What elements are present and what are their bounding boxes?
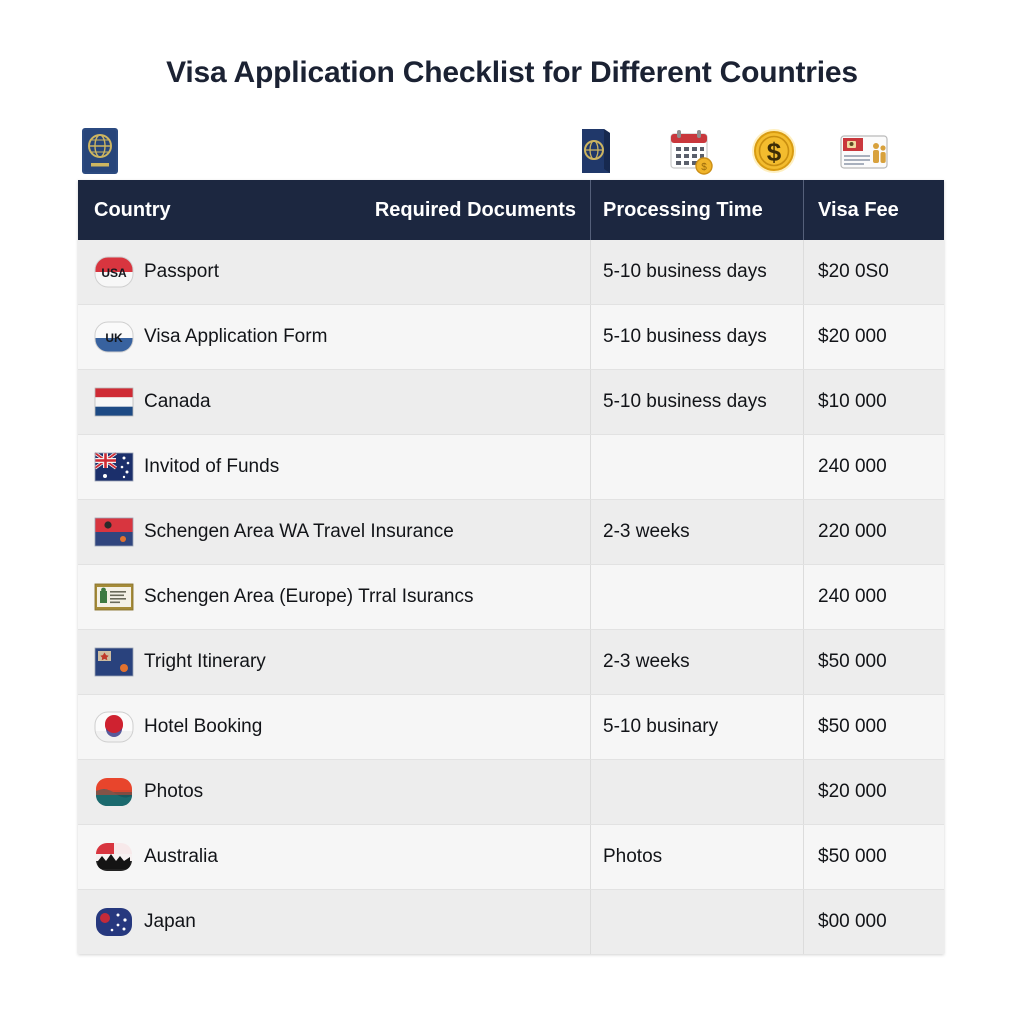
dollar-coin-icon: $ (750, 126, 798, 176)
cell-country: UKVisa Application Form (78, 305, 590, 369)
cell-visa-fee: $20 000 (803, 305, 944, 369)
table-row[interactable]: Invitod of Funds240 000 (78, 435, 944, 500)
table-row[interactable]: Hotel Booking5-10 businary$50 000 (78, 695, 944, 760)
cell-country: Japan (78, 890, 590, 954)
australia-flag (94, 451, 144, 483)
japan-flag (94, 711, 144, 743)
country-label: Japan (144, 911, 196, 933)
blue-canton-flag (94, 646, 144, 678)
cell-country: Canada (78, 370, 590, 434)
cell-visa-fee: $50 000 (803, 695, 944, 759)
cell-country: Schengen Area WA Travel Insurance (78, 500, 590, 564)
country-label: Tright Itinerary (144, 651, 266, 673)
cell-country: Tright Itinerary (78, 630, 590, 694)
page-title: Visa Application Checklist for Different… (0, 56, 1024, 90)
cell-visa-fee: $20 0S0 (803, 240, 944, 304)
calendar-coin-icon: $ (667, 126, 715, 176)
country-label: Passport (144, 261, 219, 283)
column-header-visa-fee: Visa Fee (803, 180, 944, 240)
table-row[interactable]: Canada5-10 business days$10 000 (78, 370, 944, 435)
svg-text:USA: USA (101, 266, 127, 280)
country-label: Hotel Booking (144, 716, 262, 738)
red-blue-star-flag (94, 516, 144, 548)
cell-visa-fee: 220 000 (803, 500, 944, 564)
header-icon-strip: $ $ (78, 126, 944, 178)
netherlands-flag (94, 386, 144, 418)
svg-text:$: $ (767, 137, 782, 167)
table-row[interactable]: Schengen Area (Europe) Trral Isurancs240… (78, 565, 944, 630)
table-header-row: Country Required Documents Processing Ti… (78, 180, 944, 240)
passport-icon (78, 126, 126, 176)
cell-country: Schengen Area (Europe) Trral Isurancs (78, 565, 590, 629)
table-row[interactable]: Tright Itinerary2-3 weeks$50 000 (78, 630, 944, 695)
visa-checklist-page: Visa Application Checklist for Different… (0, 0, 1024, 1024)
cell-visa-fee: 240 000 (803, 565, 944, 629)
cell-processing-time: 5-10 businary (590, 695, 803, 759)
column-header-processing-time: Processing Time (590, 180, 803, 240)
uk-flag: UK (94, 321, 144, 353)
column-header-documents: Required Documents (375, 199, 576, 222)
table-row[interactable]: UKVisa Application Form5-10 business day… (78, 305, 944, 370)
table-row[interactable]: Photos$20 000 (78, 760, 944, 825)
country-label: Visa Application Form (144, 326, 327, 348)
svg-text:$: $ (701, 162, 707, 173)
cell-visa-fee: $50 000 (803, 825, 944, 889)
table-row[interactable]: Japan$00 000 (78, 890, 944, 954)
visa-checklist-table: Country Required Documents Processing Ti… (78, 180, 944, 954)
svg-text:UK: UK (105, 331, 123, 345)
country-label: Australia (144, 846, 218, 868)
country-label: Photos (144, 781, 203, 803)
cell-processing-time: 2-3 weeks (590, 500, 803, 564)
blue-stars-flag (94, 906, 144, 938)
country-label: Invitod of Funds (144, 456, 279, 478)
table-row[interactable]: Schengen Area WA Travel Insurance2-3 wee… (78, 500, 944, 565)
cell-country: Invitod of Funds (78, 435, 590, 499)
cell-processing-time (590, 890, 803, 954)
column-header-country-documents: Country Required Documents (78, 199, 590, 222)
table-body: USAPassport5-10 business days$20 0S0 UKV… (78, 240, 944, 954)
cell-processing-time: 5-10 business days (590, 370, 803, 434)
cell-processing-time (590, 760, 803, 824)
cell-visa-fee: $00 000 (803, 890, 944, 954)
country-label: Schengen Area WA Travel Insurance (144, 521, 454, 543)
cell-visa-fee: 240 000 (803, 435, 944, 499)
id-card-icon (838, 126, 886, 176)
cell-processing-time: 5-10 business days (590, 240, 803, 304)
passport-book-icon (574, 126, 622, 176)
cell-processing-time: 2-3 weeks (590, 630, 803, 694)
table-row[interactable]: USAPassport5-10 business days$20 0S0 (78, 240, 944, 305)
table-row[interactable]: AustraliaPhotos$50 000 (78, 825, 944, 890)
cell-country: Photos (78, 760, 590, 824)
tan-document-flag (94, 581, 144, 613)
cell-processing-time (590, 435, 803, 499)
country-label: Schengen Area (Europe) Trral Isurancs (144, 586, 474, 608)
cell-processing-time (590, 565, 803, 629)
cell-visa-fee: $10 000 (803, 370, 944, 434)
red-teal-flag (94, 776, 144, 808)
red-white-black-flag (94, 841, 144, 873)
cell-country: Hotel Booking (78, 695, 590, 759)
usa-flag: USA (94, 256, 144, 288)
cell-country: Australia (78, 825, 590, 889)
column-header-country: Country (94, 199, 171, 222)
cell-processing-time: Photos (590, 825, 803, 889)
cell-visa-fee: $20 000 (803, 760, 944, 824)
cell-processing-time: 5-10 business days (590, 305, 803, 369)
cell-visa-fee: $50 000 (803, 630, 944, 694)
cell-country: USAPassport (78, 240, 590, 304)
country-label: Canada (144, 391, 211, 413)
